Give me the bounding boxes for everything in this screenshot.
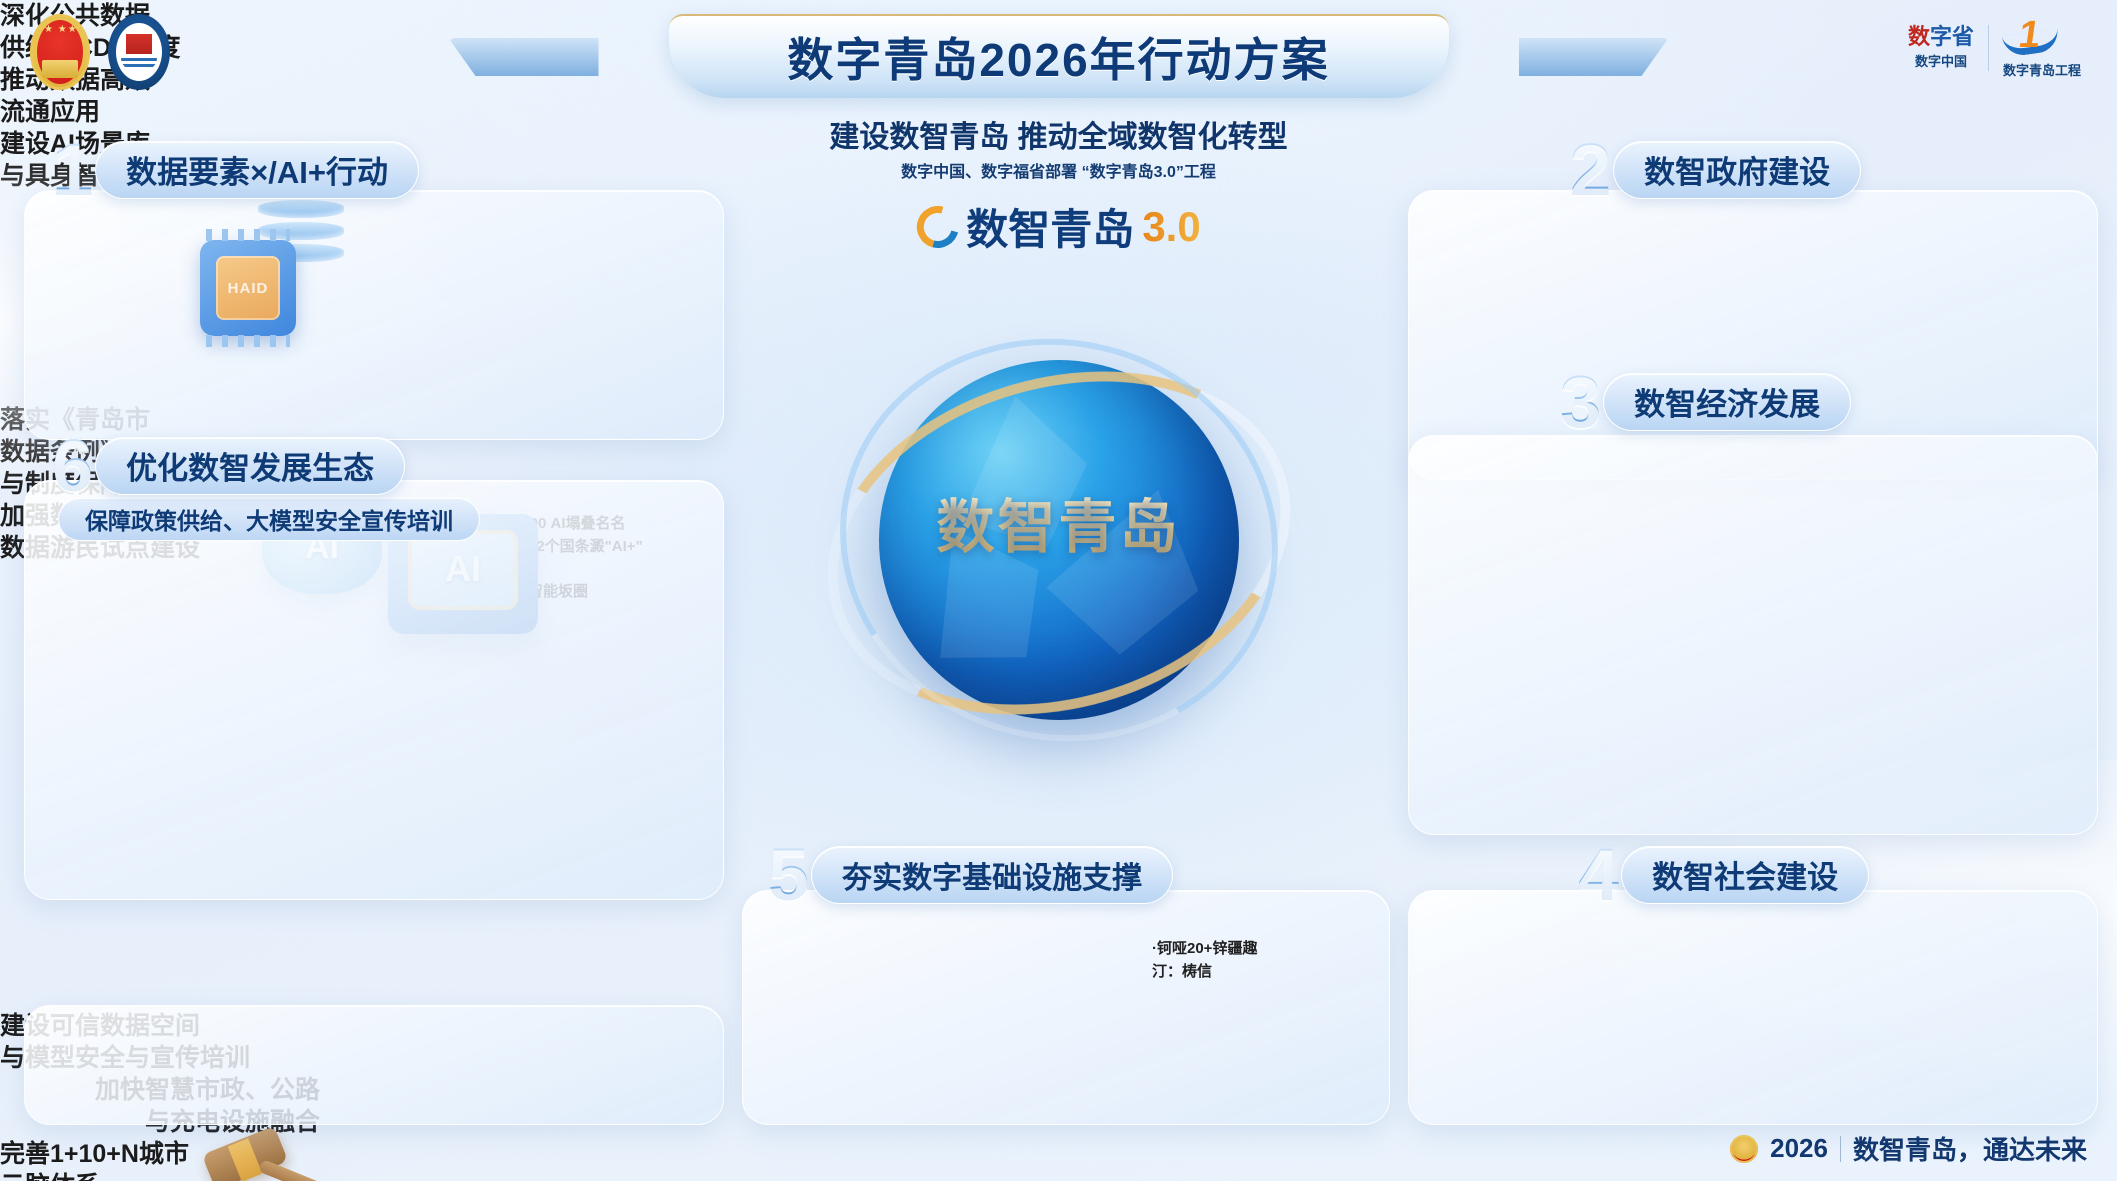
section-4-panel[interactable] bbox=[1408, 890, 2098, 1125]
section-2-title: 数智政府建设 bbox=[1613, 141, 1861, 199]
section-1-title: 数据要素×/AI+行动 bbox=[95, 141, 419, 199]
hero-logo-text: 数智青岛 bbox=[966, 196, 1134, 257]
section-3-number: 3 bbox=[1560, 372, 1601, 431]
infographic-canvas: ★ ★★ 数字青岛2026年行动方案 建设数智青岛 推动全域数智化转型 数字中国… bbox=[0, 0, 2117, 1181]
footer-divider bbox=[1840, 1136, 1841, 1162]
section-6-number: 6 bbox=[52, 436, 93, 495]
brand-mark-char-1: 数 bbox=[1908, 24, 1930, 49]
ribbon-tail-left bbox=[449, 38, 599, 76]
brand-caption-digital-qingdao: 数字青岛工程 bbox=[2003, 60, 2081, 79]
section-6-footer-panel[interactable] bbox=[24, 1005, 724, 1125]
globe-label: 数智青岛 bbox=[849, 480, 1269, 564]
hero-logo: 数智青岛 3.0 bbox=[916, 196, 1200, 257]
national-emblem-icon: ★ ★★ bbox=[30, 14, 90, 90]
gavel-icon bbox=[196, 1119, 326, 1181]
section-6-title: 优化数智发展生态 bbox=[95, 437, 405, 495]
ribbon-tail-right bbox=[1519, 38, 1669, 76]
section-3-title: 数智经济发展 bbox=[1603, 373, 1851, 431]
footer-slogan: 数智青岛，通达未来 bbox=[1853, 1130, 2087, 1167]
section-6-subpill: 保障政策供给、大模型安全宣传培训 bbox=[58, 497, 480, 541]
section-3-panel[interactable] bbox=[1408, 435, 2098, 835]
chip-haid-icon: HAID bbox=[200, 240, 296, 336]
brand-mark-char-2: 字省 bbox=[1930, 24, 1974, 49]
section-5-annotation: ·钶哑20+锌疆趣 汀：梼信 bbox=[1152, 938, 1352, 983]
section-2-header: 2 数智政府建设 bbox=[1570, 140, 1861, 199]
section-3-header: 3 数智经济发展 bbox=[1560, 372, 1851, 431]
page-subtitle: 建设数智青岛 推动全域数智化转型 bbox=[829, 112, 1287, 156]
brand-divider bbox=[1988, 25, 1989, 71]
header-emblems: ★ ★★ bbox=[30, 14, 170, 90]
section-5-title: 夯实数字基础设施支撑 bbox=[811, 846, 1173, 904]
digital-china-brand: 数字省 数字中国 bbox=[1908, 25, 1974, 69]
footer-emblem-icon bbox=[1730, 1135, 1758, 1163]
number-one-logo-icon: 1 bbox=[2003, 16, 2059, 58]
title-ribbon: 数字青岛2026年行动方案 bbox=[559, 6, 1559, 102]
section-5-panel[interactable] bbox=[742, 890, 1390, 1125]
page-title: 数字青岛2026年行动方案 bbox=[787, 24, 1329, 90]
section-6-panel[interactable] bbox=[24, 480, 724, 900]
section-2-number: 2 bbox=[1570, 140, 1611, 199]
section-1-header: 1 数据要素×/AI+行动 bbox=[52, 140, 419, 199]
digital-qingdao-brand: 1 数字青岛工程 bbox=[2003, 16, 2081, 79]
central-globe: 数智青岛 bbox=[849, 330, 1269, 750]
section-4-header: 4 数智社会建设 bbox=[1578, 845, 1869, 904]
section-5-header: 5 夯实数字基础设施支撑 bbox=[768, 845, 1173, 904]
brand-caption-digital-china: 数字中国 bbox=[1908, 51, 1974, 70]
title-ribbon-body: 数字青岛2026年行动方案 bbox=[669, 14, 1449, 98]
section-6-header: 6 优化数智发展生态 bbox=[52, 436, 405, 495]
section-1-panel[interactable] bbox=[24, 190, 724, 440]
swirl-icon bbox=[909, 198, 966, 255]
page-subtitle-small: 数字中国、数字福省部署 “数字青岛3.0”工程 bbox=[901, 158, 1216, 182]
footer: 2026 数智青岛，通达未来 bbox=[1730, 1130, 2087, 1167]
section-1-number: 1 bbox=[52, 140, 93, 199]
section-4-title: 数智社会建设 bbox=[1621, 846, 1869, 904]
footer-year: 2026 bbox=[1770, 1133, 1828, 1164]
hero-logo-version: 3.0 bbox=[1142, 203, 1200, 251]
qingdao-city-emblem-icon bbox=[108, 14, 170, 90]
brand-logos: 数字省 数字中国 1 数字青岛工程 bbox=[1908, 16, 2081, 79]
section-4-number: 4 bbox=[1578, 845, 1619, 904]
section-5-number: 5 bbox=[768, 845, 809, 904]
